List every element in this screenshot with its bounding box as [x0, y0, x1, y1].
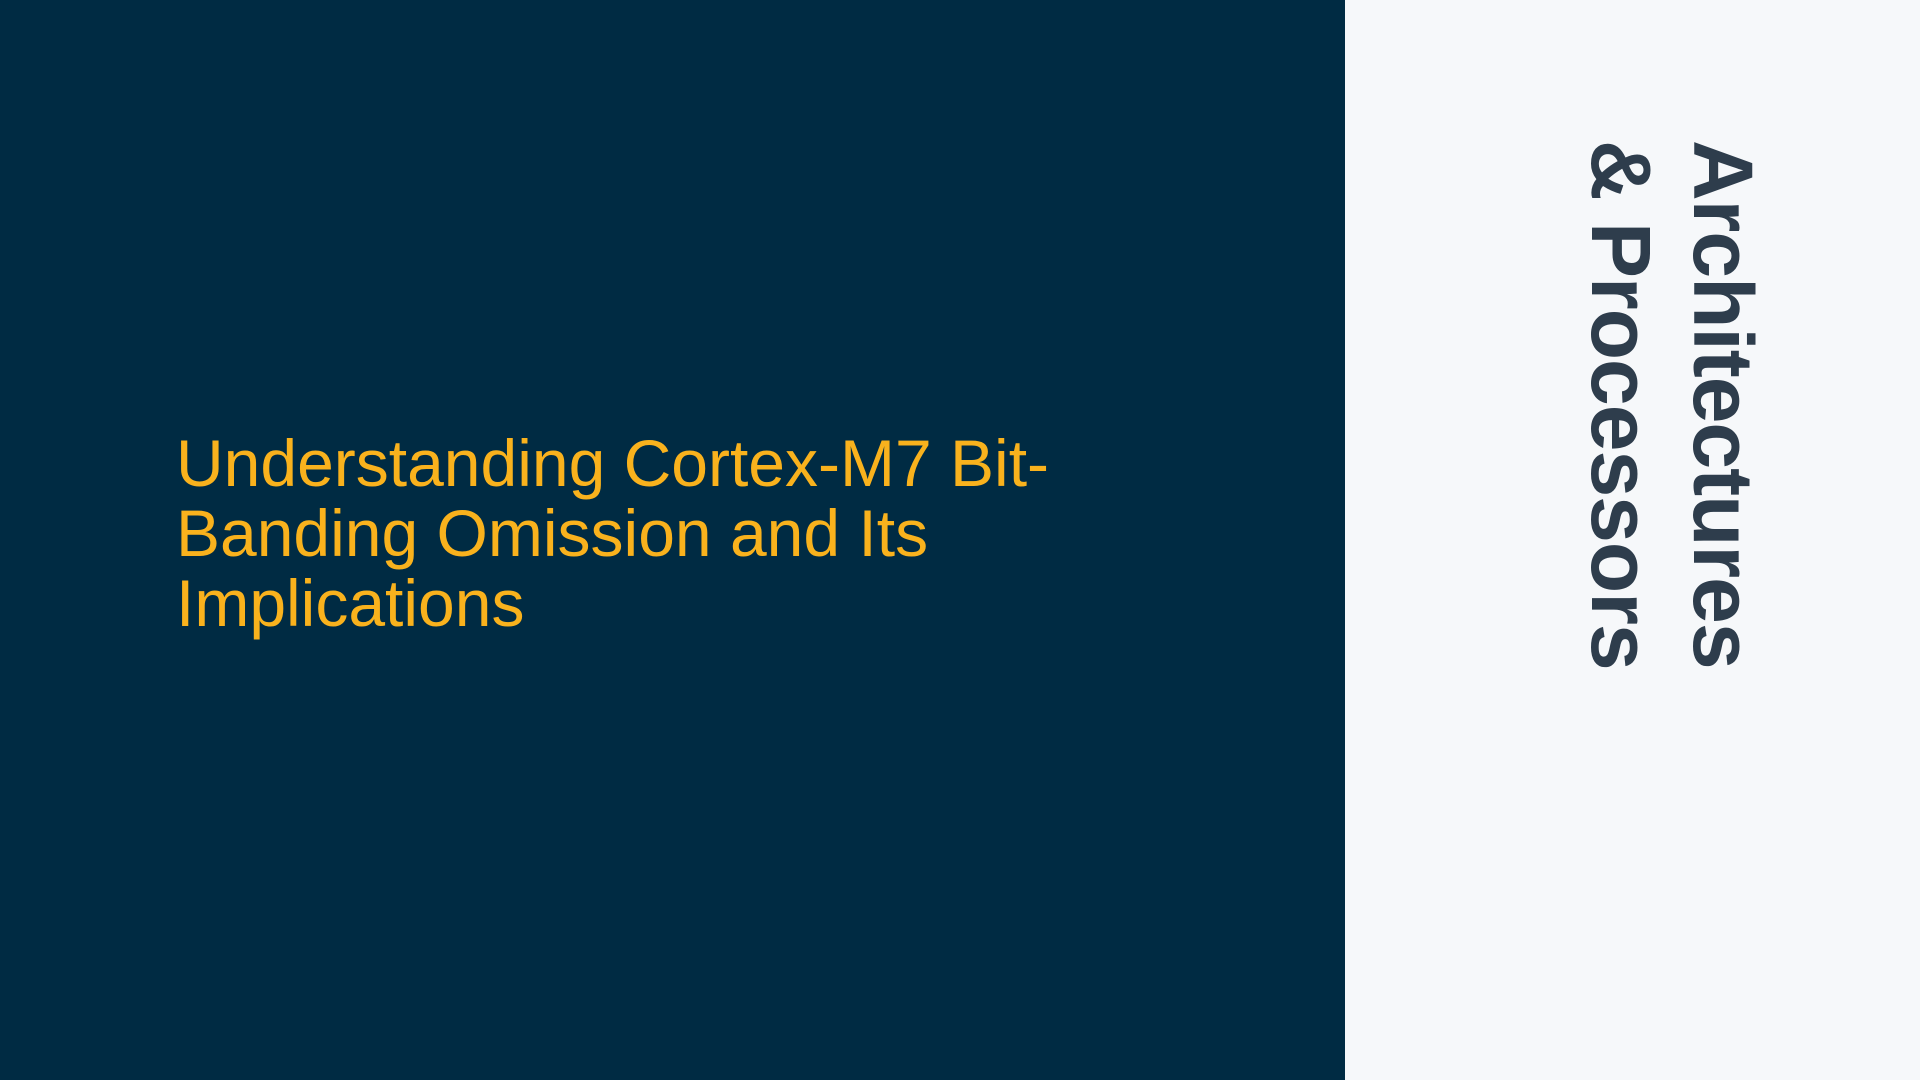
- category-label-architectures: Architectures: [1681, 140, 1765, 669]
- title-block: Understanding Cortex-M7 Bit-Banding Omis…: [176, 428, 1236, 638]
- slide-root: Understanding Cortex-M7 Bit-Banding Omis…: [0, 0, 1920, 1080]
- vertical-label-stack: Architectures & Processors: [1345, 0, 1920, 1080]
- page-title: Understanding Cortex-M7 Bit-Banding Omis…: [176, 428, 1236, 638]
- category-panel: Architectures & Processors: [1345, 0, 1920, 1080]
- title-panel: Understanding Cortex-M7 Bit-Banding Omis…: [0, 0, 1345, 1080]
- category-label-processors: & Processors: [1579, 140, 1663, 670]
